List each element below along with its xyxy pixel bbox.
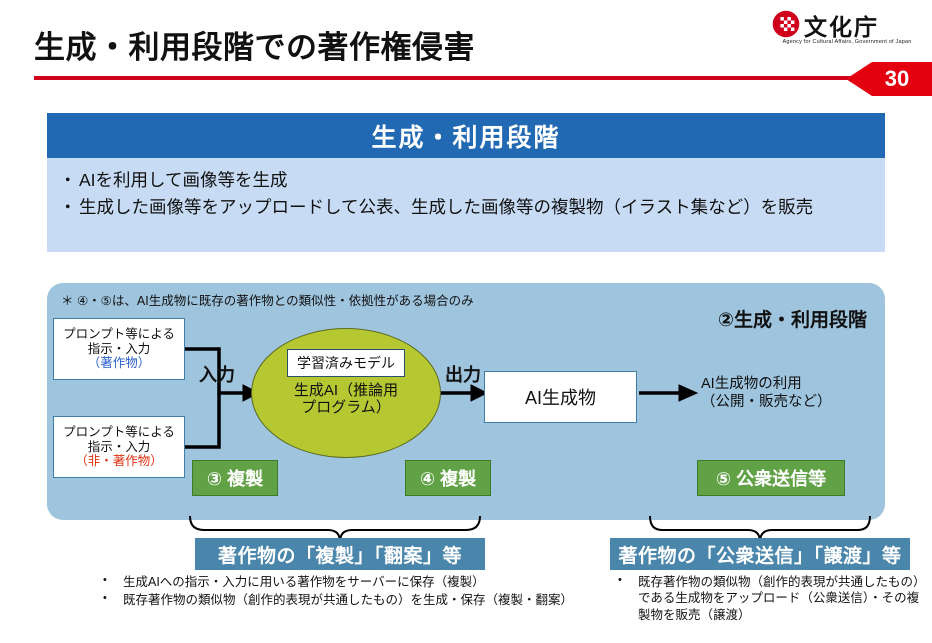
- title-underline-rule: [34, 76, 896, 80]
- generative-ai-caption-line1: 生成AI（推論用: [294, 382, 398, 399]
- slide-header: 生成・利用段階での著作権侵害 文化庁 Agency for Cultural A…: [0, 0, 932, 100]
- prompt-box-tag: （非・著作物）: [75, 454, 163, 469]
- list-item: 既存著作物の類似物（創作的表現が共通したもの）を生成・保存（複製・翻案）: [95, 592, 625, 609]
- generative-ai-ellipse: 学習済みモデル 生成AI（推論用 プログラム）: [251, 328, 441, 458]
- footer-notes-right-list: 既存著作物の類似物（創作的表現が共通したもの）である生成物をアップロード（公衆送…: [610, 574, 930, 623]
- footer-notes-right: 既存著作物の類似物（創作的表現が共通したもの）である生成物をアップロード（公衆送…: [610, 574, 930, 624]
- prompt-box-line2: 指示・入力: [88, 342, 151, 357]
- stage-summary-bullet-list: AIを利用して画像等を生成 生成した画像等をアップロードして公表、生成した画像等…: [61, 168, 871, 220]
- ai-output-usage-line1: AI生成物の利用: [701, 375, 832, 393]
- prompt-input-box-noncopyrighted: プロンプト等による 指示・入力 （非・著作物）: [53, 416, 185, 478]
- trained-model-box: 学習済みモデル: [287, 349, 405, 377]
- agency-logo-english-name: Agency for Cultural Affairs, Government …: [772, 39, 922, 45]
- ai-output-usage-text: AI生成物の利用 （公開・販売など）: [701, 375, 832, 412]
- arrow-label-output: 出力: [445, 361, 481, 387]
- footer-notes-left-list: 生成AIへの指示・入力に用いる著作物をサーバーに保存（複製） 既存著作物の類似物…: [95, 574, 625, 609]
- list-item: AIを利用して画像等を生成: [61, 168, 871, 193]
- badge-reproduction-3: ③ 複製: [192, 460, 278, 496]
- list-item: 生成AIへの指示・入力に用いる著作物をサーバーに保存（複製）: [95, 574, 625, 591]
- ai-generated-work-box: AI生成物: [484, 371, 637, 423]
- prompt-box-line1: プロンプト等による: [63, 327, 175, 342]
- agency-logo-japanese-name: 文化庁: [804, 8, 879, 42]
- agency-logo-mark-icon: [772, 10, 800, 38]
- list-item: 生成した画像等をアップロードして公表、生成した画像等の複製物（イラスト集など）を…: [61, 195, 871, 220]
- stage-summary-body: AIを利用して画像等を生成 生成した画像等をアップロードして公表、生成した画像等…: [47, 158, 885, 252]
- ai-output-usage-line2: （公開・販売など）: [701, 393, 832, 411]
- stage-summary-heading: 生成・利用段階: [47, 113, 885, 158]
- generative-ai-caption-line2: プログラム）: [294, 399, 398, 416]
- stage-summary-block: 生成・利用段階 AIを利用して画像等を生成 生成した画像等をアップロードして公表…: [47, 113, 885, 252]
- prompt-box-line1: プロンプト等による: [63, 425, 175, 440]
- list-item: 既存著作物の類似物（創作的表現が共通したもの）である生成物をアップロード（公衆送…: [610, 574, 930, 623]
- page-title: 生成・利用段階での著作権侵害: [34, 22, 475, 67]
- prompt-box-line2: 指示・入力: [88, 440, 151, 455]
- generative-ai-caption: 生成AI（推論用 プログラム）: [294, 382, 398, 417]
- footer-notes-left: 生成AIへの指示・入力に用いる著作物をサーバーに保存（複製） 既存著作物の類似物…: [95, 574, 625, 610]
- prompt-input-box-copyrighted: プロンプト等による 指示・入力 （著作物）: [53, 318, 185, 380]
- footer-bar-public-transmission: 著作物の「公衆送信」「譲渡」等: [610, 538, 910, 570]
- badge-public-transmission-5: ⑤ 公衆送信等: [697, 460, 845, 496]
- page-number-value: 30: [846, 62, 932, 96]
- agency-logo: 文化庁 Agency for Cultural Affairs, Governm…: [772, 8, 922, 56]
- footer-bar-reproduction: 著作物の「複製」「翻案」等: [195, 538, 485, 570]
- badge-reproduction-4: ④ 複製: [405, 460, 491, 496]
- generation-stage-diagram: ＊ ④・⑤は、AI生成物に既存の著作物との類似性・依拠性がある場合のみ ②生成・…: [47, 283, 885, 520]
- page-number-ribbon: 30: [820, 62, 932, 96]
- arrow-label-input: 入力: [199, 361, 235, 387]
- prompt-box-tag: （著作物）: [88, 356, 151, 371]
